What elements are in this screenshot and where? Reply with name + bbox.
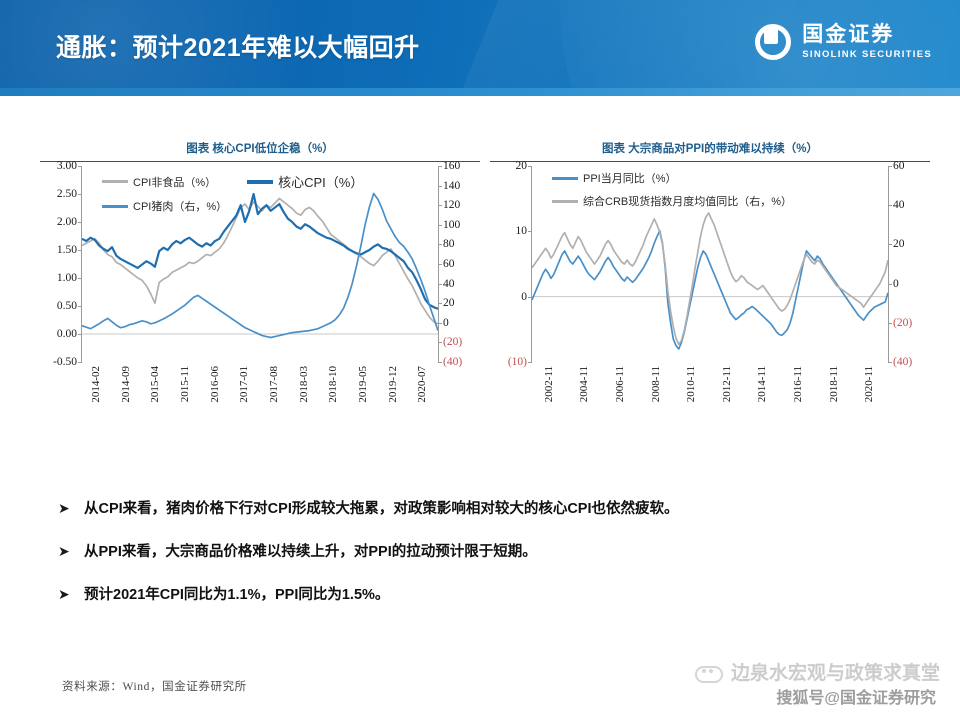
axis-tick-label: 20 [443, 297, 455, 309]
axis-tick-label: 120 [443, 199, 460, 211]
y-axis-right-ppi-crb: 6040200(20)(40) [888, 166, 930, 362]
axis-tick-label: 140 [443, 180, 460, 192]
x-axis-tick-label: 2019-12 [387, 366, 399, 403]
source-note: 资料来源：Wind，国金证券研究所 [62, 678, 247, 694]
axis-tick-mark [888, 284, 892, 285]
chart-title-ppi-crb: 图表 大宗商品对PPI的带动难以持续（%） [490, 140, 930, 161]
axis-tick-label: (20) [443, 336, 462, 348]
x-axis-ppi-crb: 2002-112004-112006-112008-112010-112012-… [532, 366, 888, 466]
axis-tick-label: 40 [443, 278, 455, 290]
axis-tick-label: 80 [443, 238, 455, 250]
axis-tick-mark [78, 362, 82, 363]
x-axis-tick-label: 2006-11 [614, 366, 626, 402]
axis-tick-label: (40) [893, 356, 912, 368]
axis-tick-label: 3.00 [57, 160, 77, 172]
series-line [532, 213, 888, 344]
brand-name-en: SINOLINK SECURITIES [802, 50, 932, 60]
plot-area-ppi-crb: 20100(10) 6040200(20)(40) PPI当月同比（%） 综合C… [490, 166, 930, 381]
brand-text: 国金证券 SINOLINK SECURITIES [802, 24, 932, 59]
bullet-list: ➤从CPI来看，猪肉价格下行对CPI形成较大拖累，对政策影响相对较大的核心CPI… [58, 500, 918, 629]
x-axis-tick-label: 2018-10 [327, 366, 339, 403]
axis-tick-label: 2.50 [57, 188, 77, 200]
axis-tick-mark [888, 244, 892, 245]
chart-core-cpi: 图表 核心CPI低位企稳（%） 3.002.502.001.501.000.50… [40, 140, 480, 485]
axis-tick-mark [888, 323, 892, 324]
x-axis-tick-label: 2010-11 [685, 366, 697, 402]
axis-tick-mark [438, 342, 442, 343]
axis-tick-label: 2.00 [57, 216, 77, 228]
x-axis-core-cpi: 2014-022014-092015-042015-112016-062017-… [82, 366, 438, 466]
x-axis-tick-label: 2015-04 [149, 366, 161, 403]
axis-tick-label: 10 [516, 225, 528, 237]
x-axis-tick-label: 2020-07 [416, 366, 428, 403]
axis-tick-mark [438, 225, 442, 226]
axis-tick-mark [438, 205, 442, 206]
axis-tick-mark [438, 284, 442, 285]
axis-tick-label: (20) [893, 317, 912, 329]
series-lines-core-cpi [82, 166, 438, 362]
bullet-item: ➤从CPI来看，猪肉价格下行对CPI形成较大拖累，对政策影响相对较大的核心CPI… [58, 500, 918, 519]
page-title: 通胀：预计2021年难以大幅回升 [56, 28, 420, 64]
bullet-text: 从PPI来看，大宗商品价格难以持续上升，对PPI的拉动预计限于短期。 [84, 543, 537, 562]
axis-tick-label: 1.50 [57, 244, 77, 256]
y-axis-right-core-cpi: 160140120100806040200(20)(40) [438, 166, 480, 362]
x-axis-tick-label: 2018-03 [298, 366, 310, 403]
axis-tick-label: 20 [893, 238, 905, 250]
axis-spine [888, 166, 889, 362]
charts-area: 图表 核心CPI低位企稳（%） 3.002.502.001.501.000.50… [0, 140, 960, 485]
chart-title-core-cpi: 图表 核心CPI低位企稳（%） [40, 140, 480, 161]
x-axis-tick-label: 2015-11 [179, 366, 191, 402]
cloud-icon [693, 663, 723, 681]
axis-tick-mark [438, 362, 442, 363]
brand-logo: 国金证券 SINOLINK SECURITIES [755, 24, 932, 60]
x-axis-tick-label: 2012-11 [721, 366, 733, 402]
watermark-primary-text: 边泉水宏观与政策求真堂 [731, 658, 940, 685]
x-axis-tick-label: 2014-11 [756, 366, 768, 402]
axis-tick-label: 100 [443, 219, 460, 231]
axis-tick-label: 60 [443, 258, 455, 270]
axis-tick-label: -0.50 [53, 356, 77, 368]
series-line [82, 194, 438, 309]
bullet-marker-icon: ➤ [58, 543, 84, 561]
axis-tick-label: 0 [443, 317, 449, 329]
axis-tick-label: 0 [893, 278, 899, 290]
axis-tick-label: 60 [893, 160, 905, 172]
axis-tick-label: 20 [516, 160, 528, 172]
bullet-text: 预计2021年CPI同比为1.1%，PPI同比为1.5%。 [84, 586, 389, 605]
x-axis-tick-label: 2014-09 [120, 366, 132, 403]
x-axis-tick-label: 2019-05 [357, 366, 369, 403]
x-axis-tick-label: 2016-11 [792, 366, 804, 402]
x-axis-tick-label: 2017-01 [238, 366, 250, 403]
axis-tick-label: 0 [521, 291, 527, 303]
axis-tick-mark [438, 166, 442, 167]
axis-tick-mark [888, 166, 892, 167]
axis-tick-mark [438, 264, 442, 265]
bullet-marker-icon: ➤ [58, 586, 84, 604]
bullet-item: ➤预计2021年CPI同比为1.1%，PPI同比为1.5%。 [58, 586, 918, 605]
axis-tick-mark [438, 323, 442, 324]
y-axis-left-core-cpi: 3.002.502.001.501.000.500.00-0.50 [40, 166, 82, 362]
x-axis-tick-label: 2002-11 [543, 366, 555, 402]
x-axis-tick-label: 2004-11 [578, 366, 590, 402]
series-lines-ppi-crb [532, 166, 888, 362]
watermark-secondary: 搜狐号@国金证券研究 [776, 684, 936, 708]
axis-tick-mark [888, 205, 892, 206]
axis-tick-mark [438, 303, 442, 304]
watermark-primary: 边泉水宏观与政策求真堂 [693, 658, 940, 685]
x-axis-tick-label: 2020-11 [863, 366, 875, 402]
axis-tick-label: 0.50 [57, 300, 77, 312]
bullet-item: ➤从PPI来看，大宗商品价格难以持续上升，对PPI的拉动预计限于短期。 [58, 543, 918, 562]
slide-header: 通胀：预计2021年难以大幅回升 国金证券 SINOLINK SECURITIE… [0, 0, 960, 96]
chart-title-rule [40, 161, 480, 162]
sinolink-mark-icon [755, 24, 791, 60]
axis-tick-label: 0.00 [57, 328, 77, 340]
chart-ppi-crb: 图表 大宗商品对PPI的带动难以持续（%） 20100(10) 6040200(… [490, 140, 930, 485]
axis-tick-label: (10) [508, 356, 527, 368]
axis-tick-mark [528, 362, 532, 363]
bullet-text: 从CPI来看，猪肉价格下行对CPI形成较大拖累，对政策影响相对较大的核心CPI也… [84, 500, 679, 519]
axis-tick-mark [888, 362, 892, 363]
brand-name-cn: 国金证券 [802, 24, 932, 46]
plot-area-core-cpi: 3.002.502.001.501.000.500.00-0.50 160140… [40, 166, 480, 381]
axis-tick-mark [438, 186, 442, 187]
header-bottom-band [0, 88, 960, 96]
axis-tick-label: 160 [443, 160, 460, 172]
axis-tick-label: 40 [893, 199, 905, 211]
x-axis-tick-label: 2014-02 [90, 366, 102, 403]
slide: 通胀：预计2021年难以大幅回升 国金证券 SINOLINK SECURITIE… [0, 0, 960, 720]
x-axis-tick-label: 2017-08 [268, 366, 280, 403]
x-axis-tick-label: 2018-11 [828, 366, 840, 402]
chart-title-rule [490, 161, 930, 162]
watermark: 边泉水宏观与政策求真堂 搜狐号@国金证券研究 [596, 658, 946, 716]
x-axis-tick-label: 2008-11 [650, 366, 662, 402]
axis-tick-label: (40) [443, 356, 462, 368]
bullet-marker-icon: ➤ [58, 500, 84, 518]
axis-tick-mark [438, 244, 442, 245]
y-axis-left-ppi-crb: 20100(10) [490, 166, 532, 362]
axis-tick-label: 1.00 [57, 272, 77, 284]
x-axis-tick-label: 2016-06 [209, 366, 221, 403]
